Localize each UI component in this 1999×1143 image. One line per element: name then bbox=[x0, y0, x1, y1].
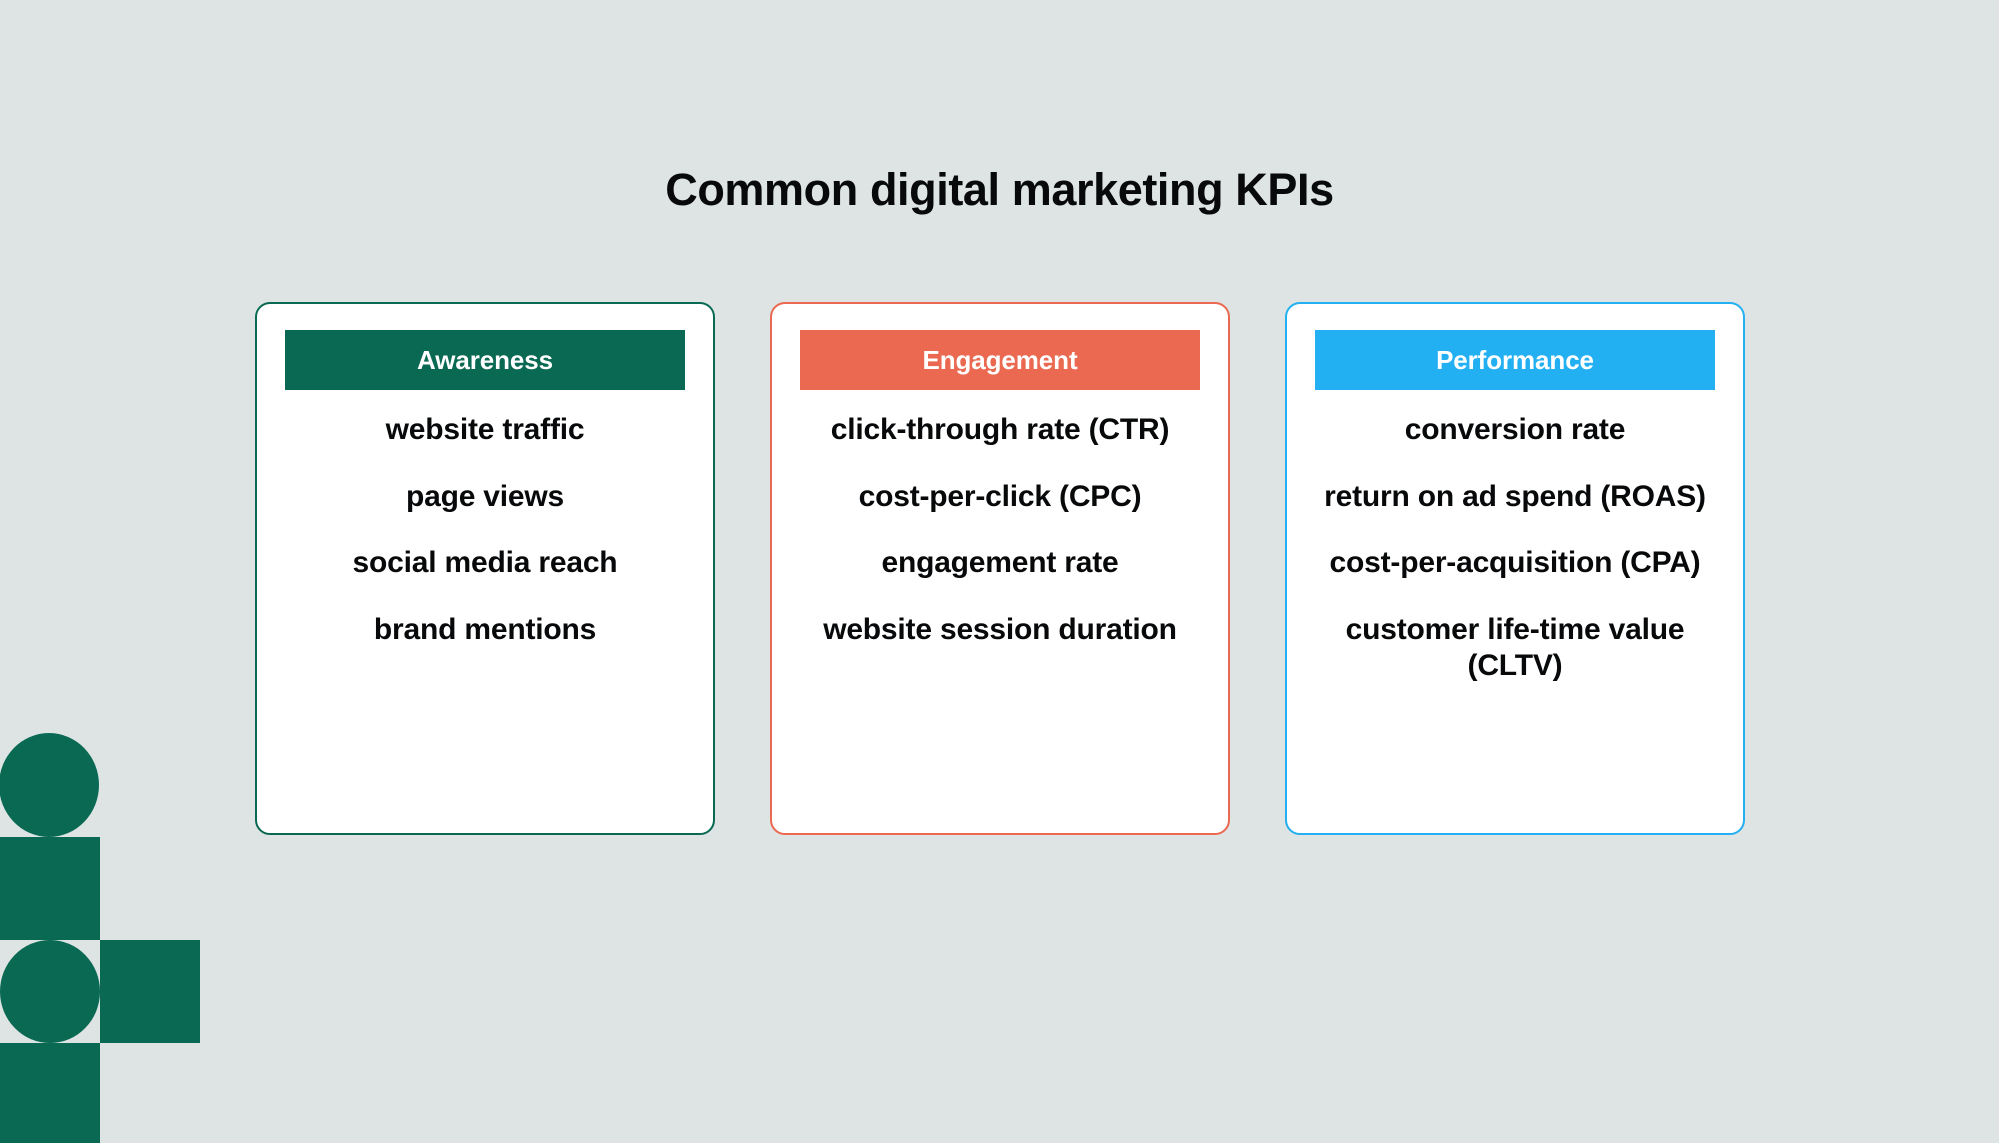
decorative-circle-icon bbox=[0, 940, 100, 1043]
decorative-square-icon bbox=[100, 940, 200, 1043]
list-item: engagement rate bbox=[800, 545, 1200, 582]
kpi-card-performance: Performance conversion rate return on ad… bbox=[1285, 302, 1745, 835]
list-item: page views bbox=[285, 479, 685, 516]
kpi-list-engagement: click-through rate (CTR) cost-per-click … bbox=[800, 412, 1200, 648]
list-item: cost-per-acquisition (CPA) bbox=[1315, 545, 1715, 582]
list-item: website session duration bbox=[800, 612, 1200, 649]
card-header-performance: Performance bbox=[1315, 330, 1715, 390]
list-item: click-through rate (CTR) bbox=[800, 412, 1200, 449]
decorative-circle-icon bbox=[0, 733, 99, 837]
list-item: brand mentions bbox=[285, 612, 685, 649]
list-item: customer life-time value (CLTV) bbox=[1315, 612, 1715, 685]
list-item: social media reach bbox=[285, 545, 685, 582]
list-item: website traffic bbox=[285, 412, 685, 449]
kpi-list-awareness: website traffic page views social media … bbox=[285, 412, 685, 648]
page-title: Common digital marketing KPIs bbox=[0, 164, 1999, 216]
card-header-engagement: Engagement bbox=[800, 330, 1200, 390]
list-item: return on ad spend (ROAS) bbox=[1315, 479, 1715, 516]
decorative-shape-cluster bbox=[0, 733, 200, 1143]
kpi-card-engagement: Engagement click-through rate (CTR) cost… bbox=[770, 302, 1230, 835]
card-header-awareness: Awareness bbox=[285, 330, 685, 390]
kpi-card-awareness: Awareness website traffic page views soc… bbox=[255, 302, 715, 835]
decorative-square-icon bbox=[0, 837, 100, 940]
list-item: conversion rate bbox=[1315, 412, 1715, 449]
decorative-square-icon bbox=[0, 1043, 100, 1143]
kpi-card-row: Awareness website traffic page views soc… bbox=[255, 302, 1745, 835]
list-item: cost-per-click (CPC) bbox=[800, 479, 1200, 516]
kpi-list-performance: conversion rate return on ad spend (ROAS… bbox=[1315, 412, 1715, 685]
